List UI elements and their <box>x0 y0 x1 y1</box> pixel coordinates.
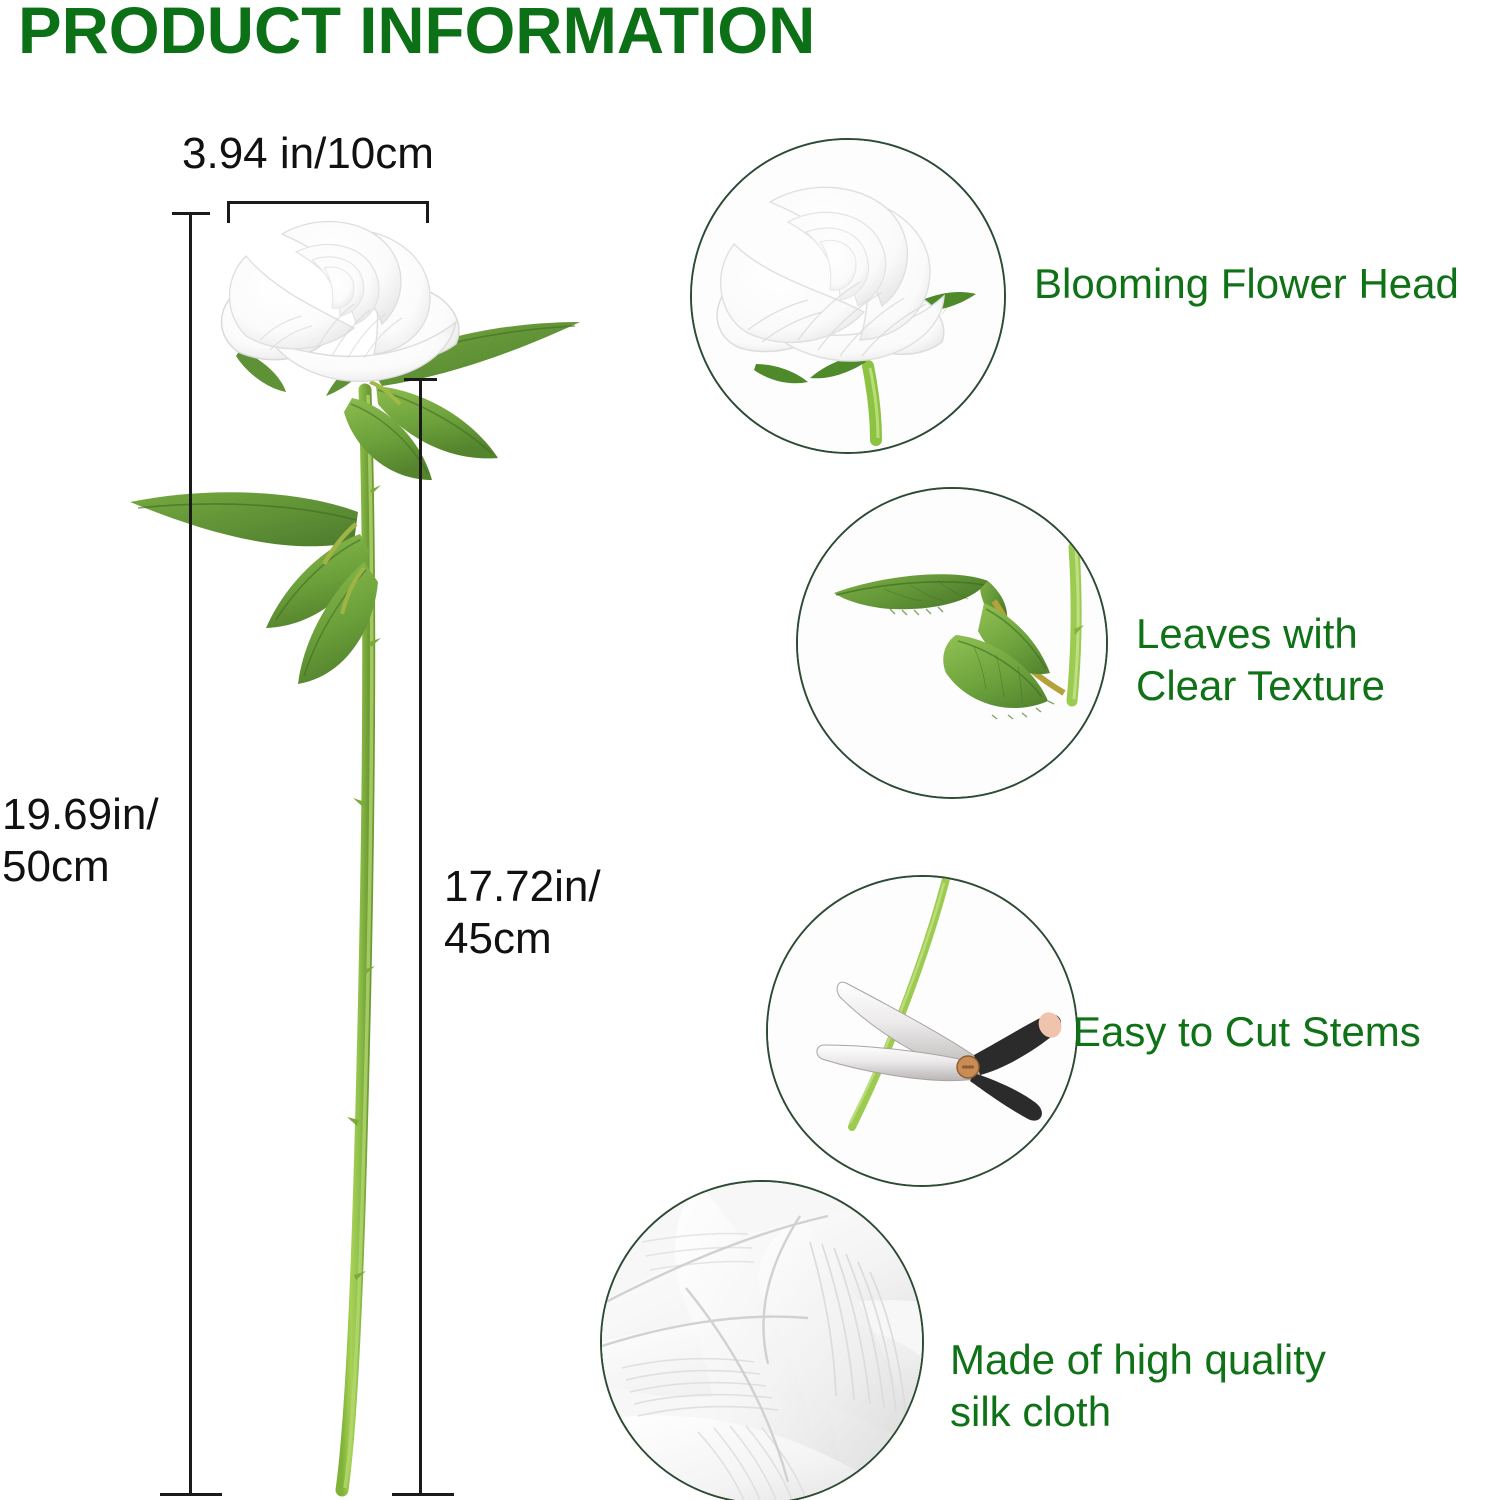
dimension-tick-total-height-bottom <box>160 1493 222 1496</box>
dimension-tick-stem-height-bottom <box>392 1493 454 1496</box>
dimension-line-width <box>227 201 429 204</box>
dimension-tick-width-left <box>227 201 230 223</box>
dimension-label-width: 3.94 in/10cm <box>182 128 434 180</box>
dimension-line-stem-height <box>419 378 422 1496</box>
callout-image-silk-cloth <box>600 1180 924 1500</box>
callout-label-silk-cloth: Made of high qualitysilk cloth <box>950 1334 1326 1438</box>
dimension-label-total-height: 19.69in/ 50cm <box>2 789 159 893</box>
dimension-tick-width-right <box>426 201 429 223</box>
dimension-label-stem-height: 17.72in/ 45cm <box>444 861 601 965</box>
callout-image-cut-stems <box>766 875 1078 1187</box>
dimension-tick-total-height-top <box>172 212 210 215</box>
callout-label-flower-head: Blooming Flower Head <box>1034 258 1459 310</box>
callout-image-flower-head <box>690 138 1006 454</box>
callout-image-leaves <box>796 487 1108 799</box>
page-title: PRODUCT INFORMATION <box>18 0 815 68</box>
product-information-infographic: PRODUCT INFORMATION <box>0 0 1486 1500</box>
dimension-line-total-height <box>189 212 192 1496</box>
callout-label-leaves: Leaves withClear Texture <box>1136 608 1385 712</box>
dimension-tick-stem-height-top <box>404 378 437 381</box>
callout-label-cut-stems: Easy to Cut Stems <box>1073 1006 1421 1058</box>
product-photo-rose-stem <box>120 190 620 1500</box>
